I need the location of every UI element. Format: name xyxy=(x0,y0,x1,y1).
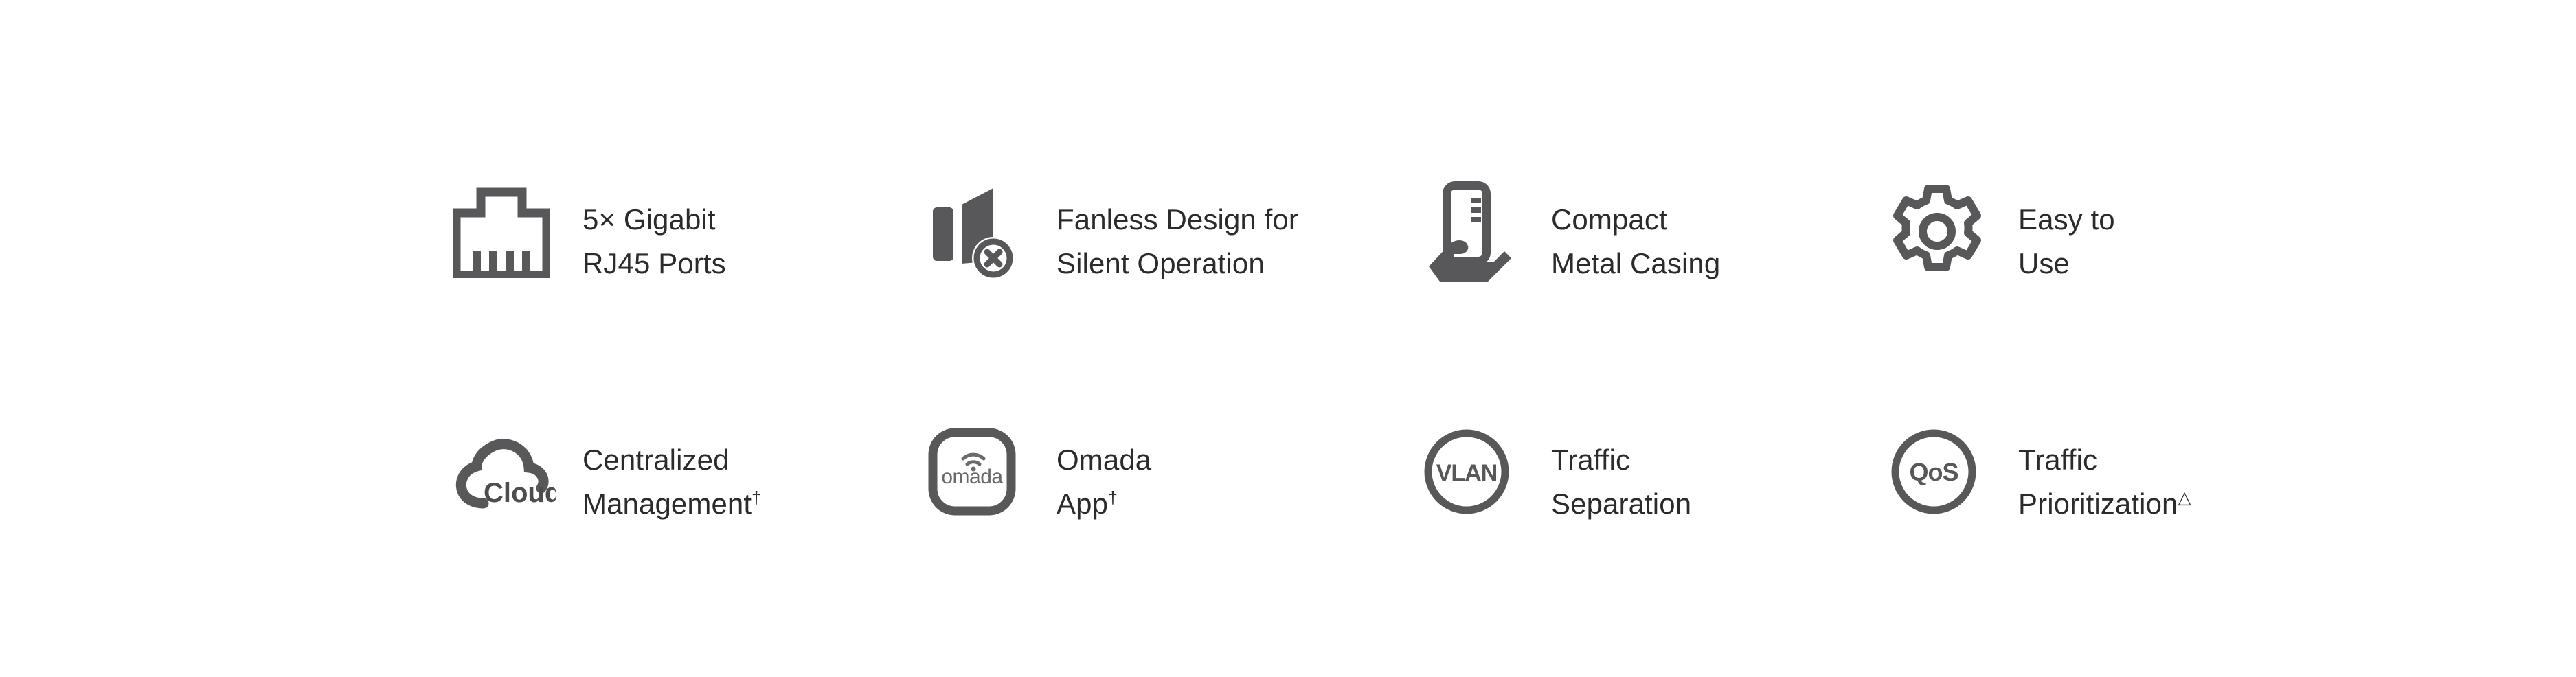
feature-item-omada-app: omada Omada App† xyxy=(927,420,1422,526)
qos-badge-icon: QoS xyxy=(1889,420,1999,523)
feature-line-2-wrap: Prioritization△ xyxy=(2018,487,2191,520)
feature-highlights-board: 5× Gigabit RJ45 Ports Fanless Design for… xyxy=(0,0,2576,677)
feature-line-2: Prioritization xyxy=(2018,487,2178,520)
feature-line-2: App xyxy=(1057,487,1108,520)
feature-label-rj45-ports: 5× Gigabit RJ45 Ports xyxy=(583,180,726,286)
feature-line-1: 5× Gigabit xyxy=(583,203,716,236)
feature-item-centralized-management: Cloud Centralized Management† xyxy=(453,420,927,526)
omada-app-icon: omada xyxy=(927,420,1037,523)
feature-line-2-wrap: App† xyxy=(1057,487,1118,520)
rj45-port-icon xyxy=(453,180,563,283)
feature-label-easy-to-use: Easy to Use xyxy=(2018,180,2115,286)
fanless-silent-speaker-mute-icon xyxy=(927,180,1037,283)
feature-item-fanless-design: Fanless Design for Silent Operation xyxy=(927,180,1422,286)
feature-line-2-wrap: Management† xyxy=(583,487,761,520)
feature-line-2: Management xyxy=(583,487,752,520)
feature-line-1: Fanless Design for xyxy=(1057,203,1298,236)
feature-line-1: Omada xyxy=(1057,444,1151,476)
feature-line-1: Easy to xyxy=(2018,203,2115,236)
feature-label-fanless-design: Fanless Design for Silent Operation xyxy=(1057,180,1298,286)
feature-line-2: Separation xyxy=(1551,487,1691,520)
cloud-icon: Cloud xyxy=(453,420,563,523)
feature-label-traffic-prioritization: Traffic Prioritization△ xyxy=(2018,420,2191,526)
feature-line-2: Use xyxy=(2018,247,2070,279)
footnote-marker: △ xyxy=(2178,488,2191,507)
feature-item-compact-metal-casing: Compact Metal Casing xyxy=(1422,180,1889,286)
feature-line-1: Traffic xyxy=(1551,444,1630,476)
vlan-icon-label: VLAN xyxy=(1436,460,1498,486)
feature-item-traffic-separation: VLAN Traffic Separation xyxy=(1422,420,1889,526)
hand-holding-device-icon xyxy=(1422,180,1532,283)
feature-row-2: Cloud Centralized Management† omada Omad… xyxy=(0,420,2576,526)
qos-icon-label: QoS xyxy=(1909,458,1958,486)
omada-icon-label: omada xyxy=(941,466,1003,488)
feature-line-1: Compact xyxy=(1551,203,1667,236)
feature-row-1: 5× Gigabit RJ45 Ports Fanless Design for… xyxy=(0,180,2576,286)
feature-line-1: Traffic xyxy=(2018,444,2097,476)
footnote-marker: † xyxy=(752,488,761,507)
feature-line-2: RJ45 Ports xyxy=(583,247,726,279)
gear-icon xyxy=(1889,180,1999,283)
feature-line-2: Metal Casing xyxy=(1551,247,1720,279)
feature-label-centralized-management: Centralized Management† xyxy=(583,420,761,526)
feature-label-omada-app: Omada App† xyxy=(1057,420,1151,526)
feature-label-traffic-separation: Traffic Separation xyxy=(1551,420,1691,526)
vlan-badge-icon: VLAN xyxy=(1422,420,1532,523)
feature-item-easy-to-use: Easy to Use xyxy=(1889,180,2301,286)
feature-item-traffic-prioritization: QoS Traffic Prioritization△ xyxy=(1889,420,2301,526)
feature-item-rj45-ports: 5× Gigabit RJ45 Ports xyxy=(453,180,927,286)
feature-line-1: Centralized xyxy=(583,444,730,476)
footnote-marker: † xyxy=(1108,488,1118,507)
feature-label-compact-metal-casing: Compact Metal Casing xyxy=(1551,180,1720,286)
feature-line-2: Silent Operation xyxy=(1057,247,1265,279)
cloud-icon-label: Cloud xyxy=(484,478,556,508)
